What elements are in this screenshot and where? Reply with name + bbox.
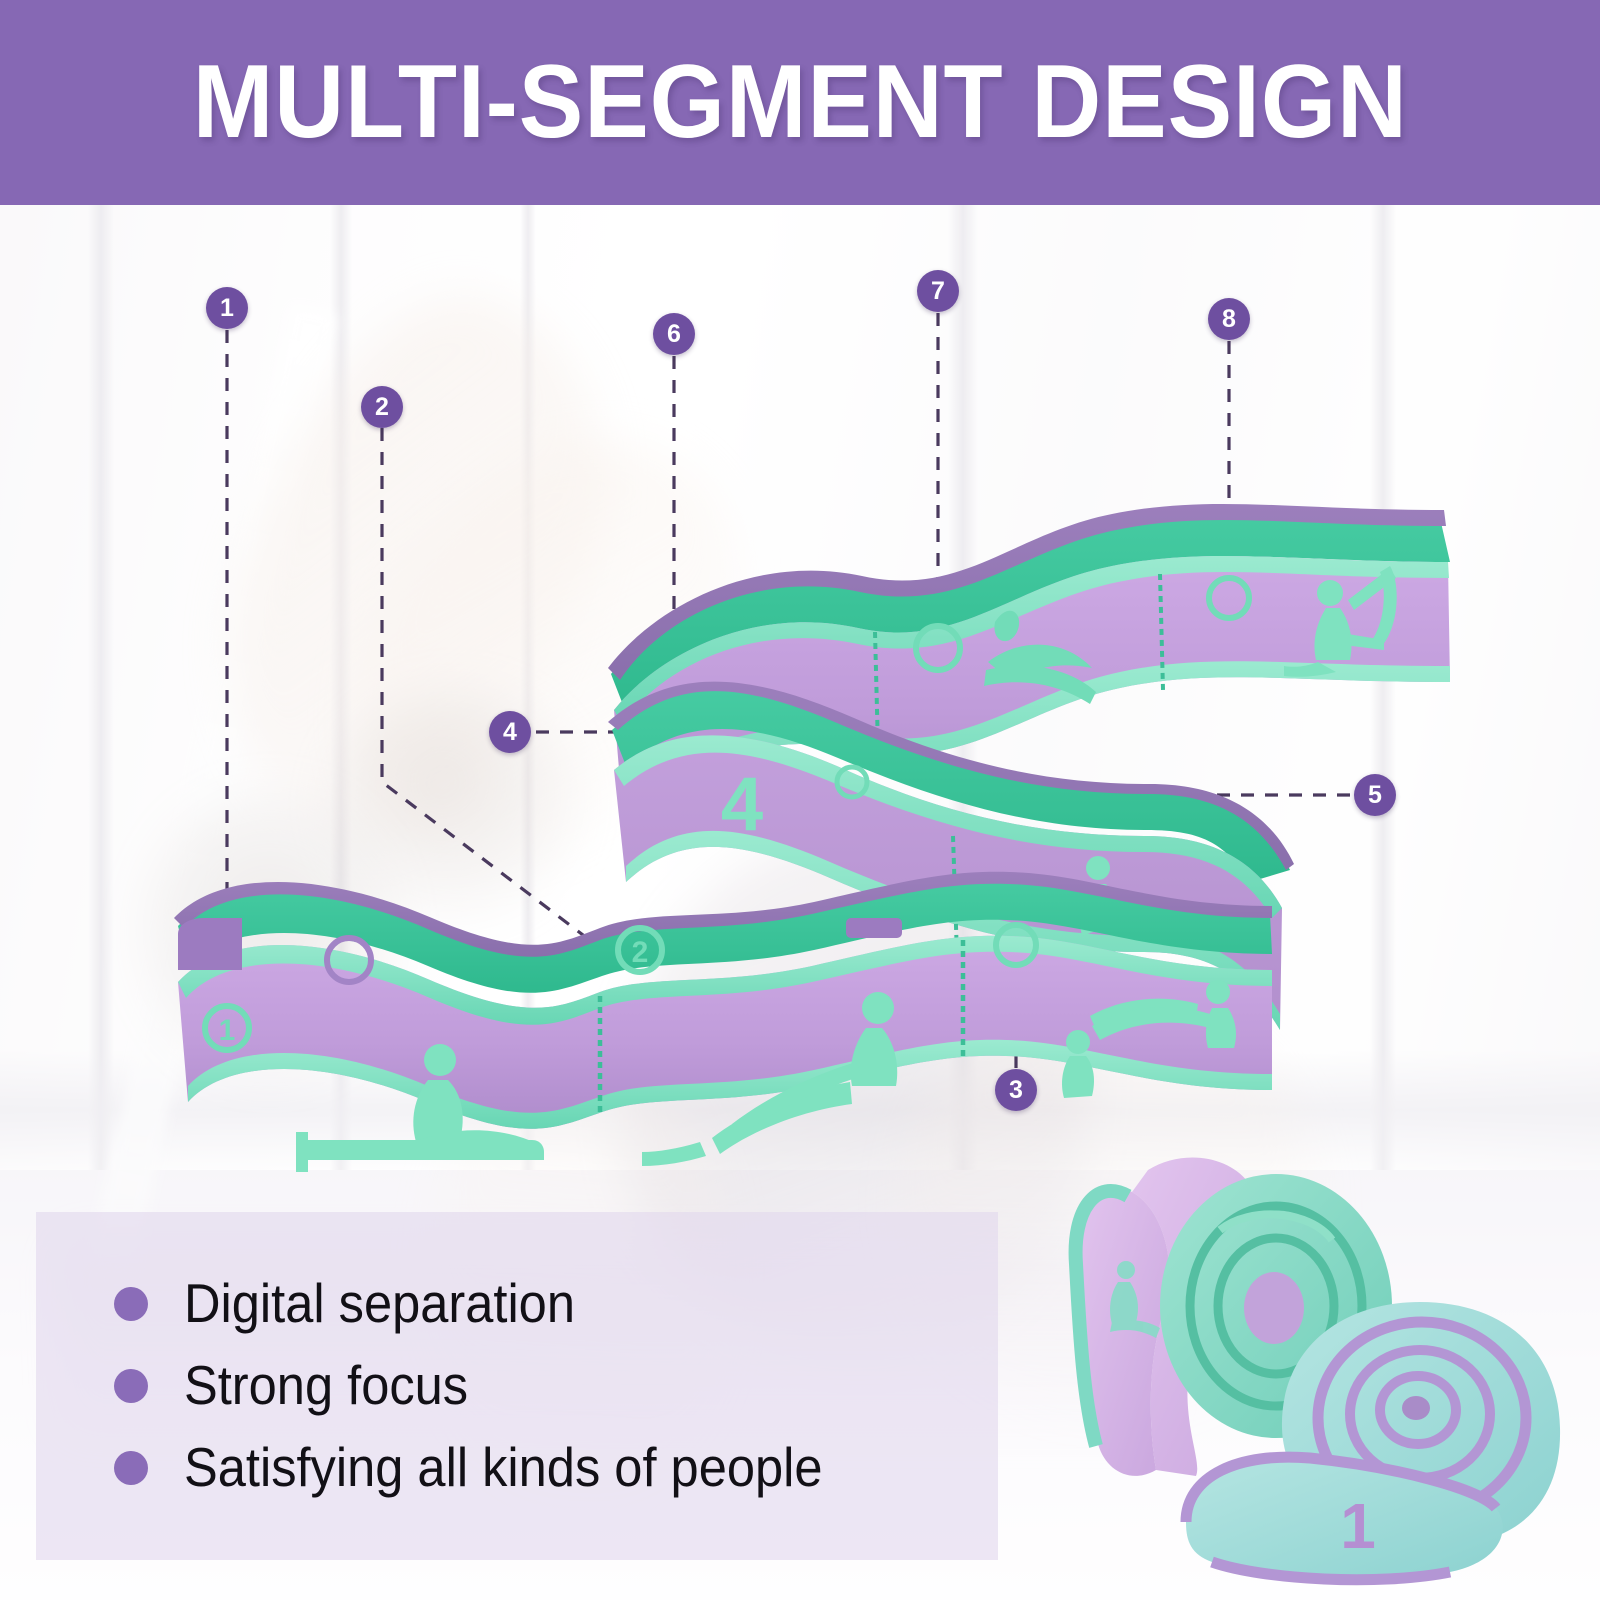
feature-list: Digital separation Strong focus Satisfyi… xyxy=(36,1212,998,1560)
callout-number: 4 xyxy=(503,720,517,745)
pose-icon-midlow xyxy=(1062,1030,1094,1098)
product-illustration: 4 1 2 xyxy=(0,170,1600,1200)
callout-marker-4[interactable]: 4 xyxy=(489,711,531,753)
segment-number-2: 2 xyxy=(632,936,649,969)
feature-item: Strong focus xyxy=(114,1357,998,1415)
bullet-icon xyxy=(114,1451,148,1485)
infographic-page: MULTI-SEGMENT DESIGN xyxy=(0,0,1600,1600)
feature-item: Satisfying all kinds of people xyxy=(114,1439,998,1497)
callout-marker-7[interactable]: 7 xyxy=(917,270,959,312)
band-label-tab xyxy=(846,918,902,938)
callout-number: 7 xyxy=(931,279,945,304)
callout-marker-1[interactable]: 1 xyxy=(206,287,248,329)
callout-number: 3 xyxy=(1009,1078,1023,1103)
rolled-band-number: 1 xyxy=(1340,1490,1376,1562)
callout-marker-6[interactable]: 6 xyxy=(653,313,695,355)
rolled-bands-photo: 1 xyxy=(980,1110,1600,1600)
callout-marker-5[interactable]: 5 xyxy=(1354,774,1396,816)
roll-a-coil-core xyxy=(1244,1272,1304,1344)
band-end-tab xyxy=(178,918,242,970)
feature-label: Strong focus xyxy=(184,1357,468,1415)
callout-number: 8 xyxy=(1222,307,1236,332)
feature-item: Digital separation xyxy=(114,1275,998,1333)
roll-b-core xyxy=(1402,1396,1430,1420)
callout-marker-3[interactable]: 3 xyxy=(995,1069,1037,1111)
page-title: MULTI-SEGMENT DESIGN xyxy=(192,43,1407,162)
segment-number-1: 1 xyxy=(219,1014,236,1047)
bullet-icon xyxy=(114,1287,148,1321)
callout-number: 2 xyxy=(375,395,389,420)
callout-marker-2[interactable]: 2 xyxy=(361,386,403,428)
feature-label: Satisfying all kinds of people xyxy=(184,1439,823,1497)
callout-number: 5 xyxy=(1368,783,1382,808)
bullet-icon xyxy=(114,1369,148,1403)
feature-panel: Digital separation Strong focus Satisfyi… xyxy=(36,1212,998,1560)
callout-marker-8[interactable]: 8 xyxy=(1208,298,1250,340)
callout-number: 6 xyxy=(667,322,681,347)
callout-number: 1 xyxy=(220,296,234,321)
segment-number-4: 4 xyxy=(721,762,763,847)
leader-line-2 xyxy=(382,428,600,948)
feature-label: Digital separation xyxy=(184,1275,575,1333)
